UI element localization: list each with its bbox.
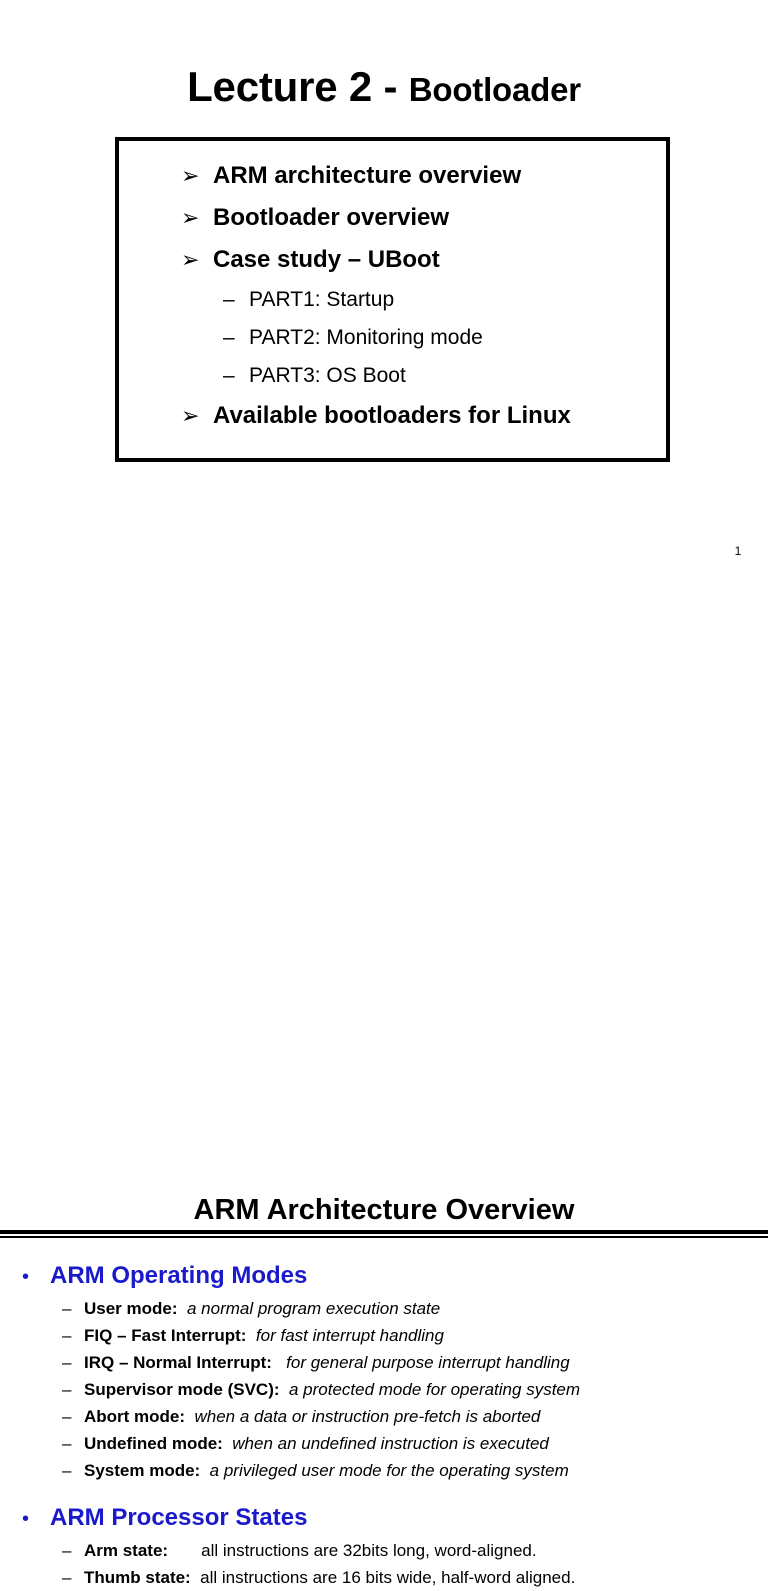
list-item-description: for fast interrupt handling	[256, 1322, 444, 1349]
agenda-list: ➢ ARM architecture overview ➢ Bootloader…	[131, 155, 656, 437]
list-item: – PART3: OS Boot	[131, 357, 656, 395]
list-item: – Arm state: all instructions are 32bits…	[0, 1537, 768, 1564]
list-item-term: Abort mode:	[84, 1403, 195, 1430]
list-item: – Supervisor mode (SVC): a protected mod…	[0, 1376, 768, 1403]
dash-bullet-icon: –	[223, 319, 249, 357]
divider-thick-line	[0, 1230, 768, 1234]
list-item-description: when an undefined instruction is execute…	[232, 1430, 549, 1457]
arrow-bullet-icon: ➢	[181, 239, 213, 281]
slide-lecture-title: Lecture 2 - Bootloader ➢ ARM architectur…	[0, 0, 768, 590]
header-divider	[0, 1230, 768, 1238]
list-item-term: Thumb state:	[84, 1564, 200, 1591]
list-item-description: a protected mode for operating system	[289, 1376, 580, 1403]
dash-bullet-icon: –	[62, 1322, 84, 1349]
dash-bullet-icon: –	[62, 1403, 84, 1430]
list-item: – System mode: a privileged user mode fo…	[0, 1457, 768, 1484]
list-item-description: a normal program execution state	[187, 1295, 440, 1322]
agenda-box-inner: ➢ ARM architecture overview ➢ Bootloader…	[118, 140, 667, 459]
dash-bullet-icon: –	[62, 1457, 84, 1484]
list-item-term: FIQ – Fast Interrupt:	[84, 1322, 256, 1349]
list-item-description: for general purpose interrupt handling	[286, 1349, 570, 1376]
page-number: 1	[728, 543, 748, 559]
arrow-bullet-icon: ➢	[181, 395, 213, 437]
list-item-description: all instructions are 32bits long, word-a…	[201, 1537, 536, 1564]
arrow-bullet-icon: ➢	[181, 197, 213, 239]
dash-bullet-icon: –	[62, 1537, 84, 1564]
section-heading-label: ARM Processor States	[50, 1500, 307, 1536]
page-title-sub: Bootloader	[409, 71, 581, 108]
list-item-description: when a data or instruction pre-fetch is …	[195, 1403, 541, 1430]
list-item-term: IRQ – Normal Interrupt:	[84, 1349, 286, 1376]
list-item: ➢ Bootloader overview	[131, 197, 656, 239]
dot-bullet-icon: •	[22, 1501, 50, 1537]
list-item-label: PART2: Monitoring mode	[249, 319, 483, 357]
list-item: ➢ ARM architecture overview	[131, 155, 656, 197]
list-item: – FIQ – Fast Interrupt: for fast interru…	[0, 1322, 768, 1349]
list-item: ➢ Case study – UBoot	[131, 239, 656, 281]
list-item-label: Bootloader overview	[213, 197, 449, 239]
dash-bullet-icon: –	[62, 1564, 84, 1591]
list-item-term: System mode:	[84, 1457, 210, 1484]
list-item: ➢ Available bootloaders for Linux	[131, 395, 656, 437]
dash-bullet-icon: –	[62, 1295, 84, 1322]
list-item: – IRQ – Normal Interrupt: for general pu…	[0, 1349, 768, 1376]
slide-content: • ARM Operating Modes – User mode: a nor…	[0, 1258, 768, 1591]
list-item: – User mode: a normal program execution …	[0, 1295, 768, 1322]
section-heading-label: ARM Operating Modes	[50, 1258, 307, 1294]
dash-bullet-icon: –	[223, 281, 249, 319]
list-item-label: Case study – UBoot	[213, 239, 440, 281]
divider-thin-line	[0, 1236, 768, 1238]
list-item-term: Arm state:	[84, 1537, 201, 1564]
dash-bullet-icon: –	[62, 1430, 84, 1457]
slide-arm-architecture-overview: ARM Architecture Overview • ARM Operatin…	[0, 590, 768, 1024]
list-item-description: a privileged user mode for the operating…	[210, 1457, 569, 1484]
page-title: Lecture 2 - Bootloader	[0, 66, 768, 108]
arrow-bullet-icon: ➢	[181, 155, 213, 197]
list-item-label: PART1: Startup	[249, 281, 394, 319]
section-title: ARM Architecture Overview	[0, 1193, 768, 1227]
list-item-description: all instructions are 16 bits wide, half-…	[200, 1564, 575, 1591]
list-item: – PART1: Startup	[131, 281, 656, 319]
page-title-main: Lecture 2 -	[187, 63, 409, 110]
section-heading-processor-states: • ARM Processor States	[0, 1500, 768, 1537]
list-item: – PART2: Monitoring mode	[131, 319, 656, 357]
list-item: – Abort mode: when a data or instruction…	[0, 1403, 768, 1430]
list-item: – Undefined mode: when an undefined inst…	[0, 1430, 768, 1457]
list-item-label: Available bootloaders for Linux	[213, 395, 571, 437]
list-item-term: Supervisor mode (SVC):	[84, 1376, 289, 1403]
dash-bullet-icon: –	[223, 357, 249, 395]
list-item-label: PART3: OS Boot	[249, 357, 406, 395]
section-heading-operating-modes: • ARM Operating Modes	[0, 1258, 768, 1295]
agenda-box: ➢ ARM architecture overview ➢ Bootloader…	[115, 137, 670, 462]
list-item-term: User mode:	[84, 1295, 187, 1322]
dash-bullet-icon: –	[62, 1376, 84, 1403]
dash-bullet-icon: –	[62, 1349, 84, 1376]
section-spacer	[0, 1484, 768, 1500]
dot-bullet-icon: •	[22, 1259, 50, 1295]
list-item-label: ARM architecture overview	[213, 155, 521, 197]
list-item-term: Undefined mode:	[84, 1430, 232, 1457]
list-item: – Thumb state: all instructions are 16 b…	[0, 1564, 768, 1591]
